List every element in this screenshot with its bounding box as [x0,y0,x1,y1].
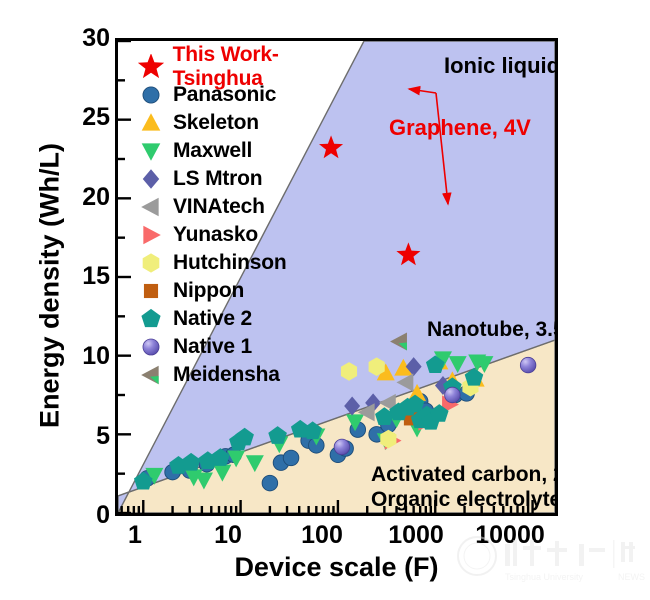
data-point-native-1 [520,357,536,373]
diamond-icon [136,165,166,193]
watermark-university: Tsinghua University [505,572,584,582]
annotation-graphene: Graphene, 4V [389,115,531,141]
legend-item-skeleton[interactable]: Skeleton [136,109,366,137]
y-tick-15: 15 [62,264,110,289]
data-point-native-1 [445,387,461,403]
legend-item-label: Panasonic [173,83,276,107]
circle-icon [136,81,166,109]
pentagon-icon [136,305,166,333]
annotation-activated-carbon: Activated carbon, 2.7V [371,463,558,487]
legend-item-label: LS Mtron [173,167,262,191]
y-tick-10: 10 [62,344,110,369]
triangle-left-split-icon [136,361,166,389]
legend-item-label: Yunasko [173,223,258,247]
legend-item-label: VINAtech [173,195,265,219]
chart-root: 30 25 20 15 10 5 0 Energy density (Wh/L) [0,0,650,600]
triangle-right-icon [136,221,166,249]
data-point-panasonic [262,475,278,491]
legend-item-yunasko[interactable]: Yunasko [136,221,366,249]
square-icon [136,277,166,305]
legend-item-label: Native 2 [173,307,252,331]
legend-item-vinatech[interactable]: VINAtech [136,193,366,221]
legend-item-maxwell[interactable]: Maxwell [136,137,366,165]
legend-item-label: Meidensha [173,363,280,387]
plot-area: This Work-TsinghuaPanasonicSkeletonMaxwe… [115,38,558,516]
triangle-left-icon [136,193,166,221]
annotation-nanotube: Nanotube, 3.5V [427,318,558,342]
y-tick-20: 20 [62,185,110,210]
legend-item-label: Skeleton [173,111,259,135]
annotation-ionic-liquids: Ionic liquids [444,53,558,79]
star-icon [136,53,166,81]
legend-item-meidensha[interactable]: Meidensha [136,361,366,389]
hexagon-icon [136,249,166,277]
legend-item-label: Nippon [173,279,244,303]
y-tick-25: 25 [62,105,110,130]
sphere-icon [136,333,166,361]
data-point-native-1 [334,439,350,455]
legend-item-hutchinson[interactable]: Hutchinson [136,249,366,277]
triangle-down-icon [136,137,166,165]
legend-item-native-1[interactable]: Native 1 [136,333,366,361]
triangle-up-icon [136,109,166,137]
y-tick-5: 5 [62,424,110,449]
y-axis-title: Energy density (Wh/L) [35,86,66,486]
legend-item-this-work-tsinghua[interactable]: This Work-Tsinghua [136,53,366,81]
legend: This Work-TsinghuaPanasonicSkeletonMaxwe… [136,53,366,389]
legend-item-label: Native 1 [173,335,252,359]
legend-item-native-2[interactable]: Native 2 [136,305,366,333]
legend-item-label: Hutchinson [173,251,287,275]
annotation-organic-electrolyte: Organic electrolyte [371,488,558,512]
watermark-news: NEWS [618,572,645,582]
data-point-panasonic [283,450,299,466]
legend-item-nippon[interactable]: Nippon [136,277,366,305]
legend-item-ls-mtron[interactable]: LS Mtron [136,165,366,193]
watermark: Tsinghua University NEWS [455,536,645,588]
y-tick-30: 30 [62,26,110,51]
legend-item-label: Maxwell [173,139,252,163]
